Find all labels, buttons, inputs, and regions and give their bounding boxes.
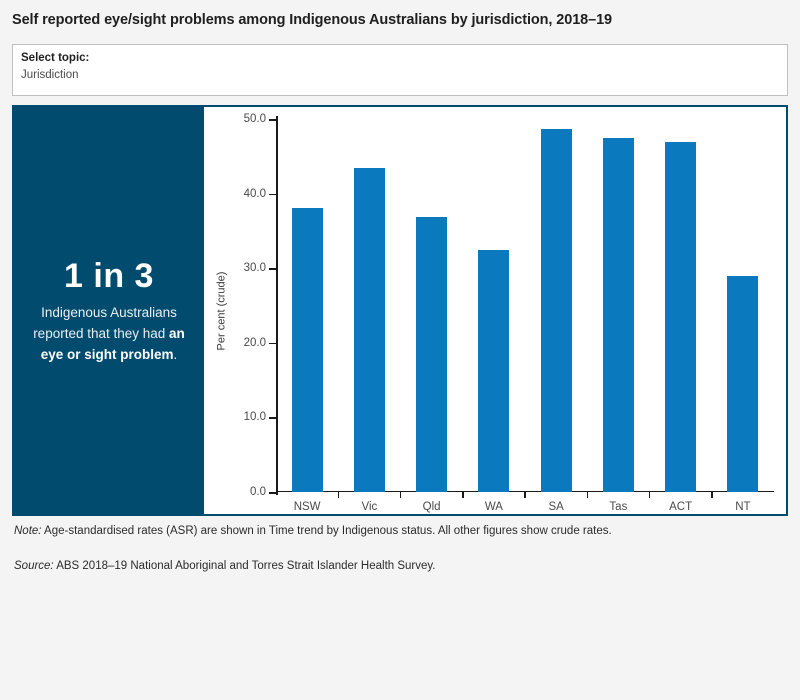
- select-topic-control[interactable]: Select topic: Jurisdiction: [12, 44, 788, 96]
- bar-nt[interactable]: [727, 276, 758, 492]
- chart-container: 1 in 3 Indigenous Australians reported t…: [12, 105, 788, 516]
- chart-source: Source: ABS 2018–19 National Aboriginal …: [14, 560, 436, 572]
- y-axis-tick: [269, 268, 276, 270]
- y-axis-title: Per cent (crude): [212, 107, 230, 514]
- y-axis-tick: [269, 492, 276, 494]
- select-topic-value[interactable]: Jurisdiction: [21, 67, 779, 83]
- x-axis-label-nt: NT: [735, 501, 750, 513]
- x-axis-label-qld: Qld: [423, 501, 441, 513]
- x-axis-label-act: ACT: [669, 501, 692, 513]
- chart-axes: 0.010.020.030.040.050.0 NSWVicQldWASATas…: [276, 119, 774, 492]
- y-axis-tick-label: 40.0: [224, 188, 266, 200]
- page-title: Self reported eye/sight problems among I…: [12, 12, 788, 28]
- key-statistic-period: .: [174, 347, 178, 362]
- x-axis-label-wa: WA: [485, 501, 503, 513]
- x-axis-tick: [338, 492, 340, 498]
- x-axis-label-vic: Vic: [361, 501, 377, 513]
- bar-series: [276, 119, 774, 492]
- plot-area: Per cent (crude) 0.010.020.030.040.050.0…: [204, 107, 786, 514]
- bar-tas[interactable]: [603, 138, 634, 492]
- x-axis-tick: [711, 492, 713, 498]
- x-axis-ticks: NSWVicQldWASATasACTNT: [276, 492, 774, 518]
- key-statistic-description: Indigenous Australians reported that the…: [24, 302, 194, 365]
- y-axis-tick-label: 30.0: [224, 262, 266, 274]
- key-statistic-line-2: reported that they had: [33, 326, 165, 341]
- page-title-bar: Self reported eye/sight problems among I…: [12, 12, 788, 38]
- chart-note: Note: Age-standardised rates (ASR) are s…: [14, 525, 612, 537]
- y-axis-tick-label: 20.0: [224, 337, 266, 349]
- bar-act[interactable]: [665, 142, 696, 492]
- bar-vic[interactable]: [354, 168, 385, 492]
- dashboard-page: Self reported eye/sight problems among I…: [0, 0, 800, 700]
- y-axis-tick-label: 10.0: [224, 411, 266, 423]
- bar-nsw[interactable]: [292, 208, 323, 492]
- x-axis-tick: [587, 492, 589, 498]
- x-axis-label-tas: Tas: [609, 501, 627, 513]
- y-axis-tick-label: 50.0: [224, 113, 266, 125]
- x-axis-tick: [524, 492, 526, 498]
- source-text: ABS 2018–19 National Aboriginal and Torr…: [54, 560, 436, 572]
- x-axis-label-sa: SA: [548, 501, 563, 513]
- bar-wa[interactable]: [478, 250, 509, 492]
- source-label: Source:: [14, 560, 54, 572]
- key-statistic-line-1: Indigenous Australians: [41, 305, 177, 320]
- x-axis-tick: [649, 492, 651, 498]
- x-axis-label-nsw: NSW: [294, 501, 321, 513]
- y-axis-tick: [269, 417, 276, 419]
- x-axis-tick: [462, 492, 464, 498]
- x-axis-tick: [400, 492, 402, 498]
- select-topic-label: Select topic:: [21, 51, 779, 66]
- y-axis-tick: [269, 119, 276, 121]
- key-statistic-panel: 1 in 3 Indigenous Australians reported t…: [14, 107, 204, 514]
- note-text: Age-standardised rates (ASR) are shown i…: [42, 525, 612, 537]
- y-axis-tick: [269, 194, 276, 196]
- key-statistic-headline: 1 in 3: [64, 256, 154, 296]
- y-axis-tick-label: 0.0: [224, 486, 266, 498]
- note-label: Note:: [14, 525, 42, 537]
- y-axis-tick: [269, 343, 276, 345]
- bar-qld[interactable]: [416, 217, 447, 492]
- bar-sa[interactable]: [541, 129, 572, 492]
